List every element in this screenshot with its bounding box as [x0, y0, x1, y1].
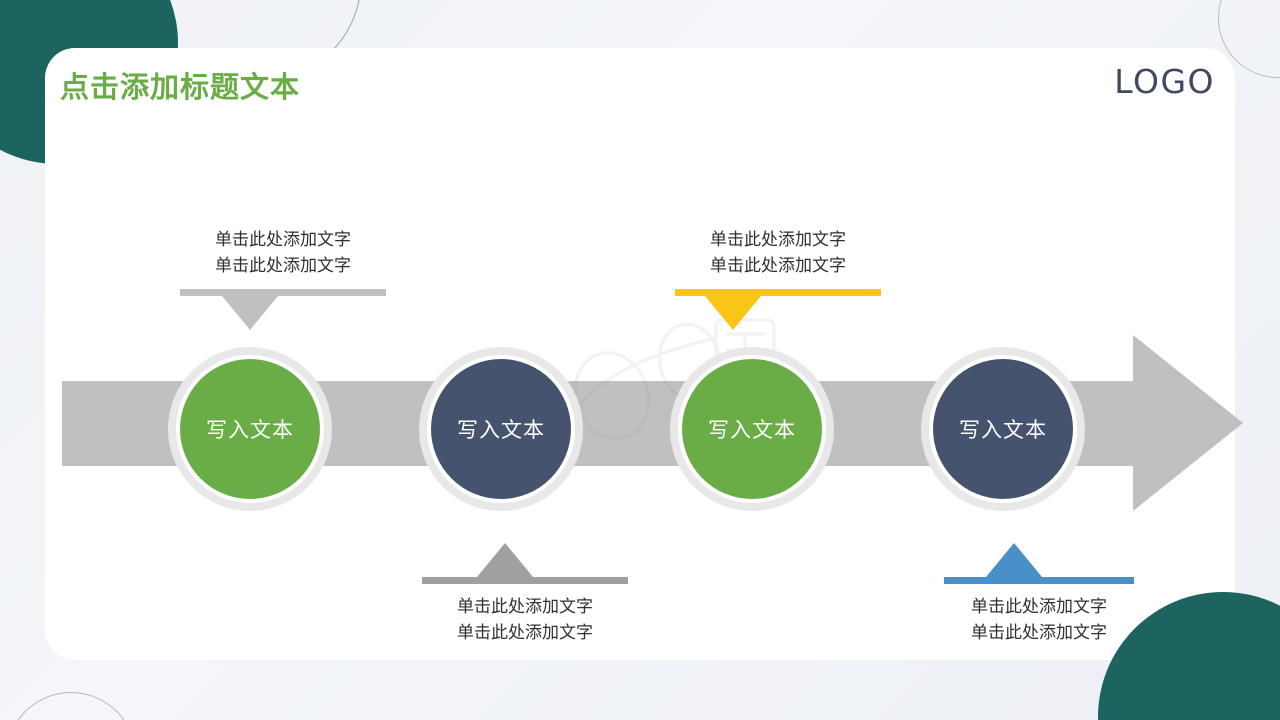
step-circle-2[interactable]: 写入文本	[419, 347, 583, 511]
callout-bottom-step-2-line-1: 单击此处添加文字	[422, 594, 628, 620]
callout-top-step-3-line-2: 单击此处添加文字	[675, 253, 881, 279]
callout-bottom-step-4-pointer-row	[944, 543, 1134, 577]
step-circle-1[interactable]: 写入文本	[168, 347, 332, 511]
callout-bottom-step-4-bar	[944, 577, 1134, 584]
step-circle-4-fill: 写入文本	[933, 359, 1073, 499]
step-circle-3-fill: 写入文本	[682, 359, 822, 499]
callout-top-step-1-bar	[180, 289, 386, 296]
process-arrow-head-icon	[1133, 335, 1243, 511]
decorative-ring-bottom-left	[6, 692, 136, 720]
callout-top-step-1-line-2: 单击此处添加文字	[180, 253, 386, 279]
callout-top-step-3-line-1: 单击此处添加文字	[675, 227, 881, 253]
step-circle-1-fill: 写入文本	[180, 359, 320, 499]
logo-text: LOGO	[1114, 62, 1215, 101]
callout-bottom-step-2[interactable]: 单击此处添加文字 单击此处添加文字	[422, 543, 628, 647]
callout-bottom-step-2-pointer-icon	[477, 543, 533, 577]
callout-top-step-1-line-1: 单击此处添加文字	[180, 227, 386, 253]
callout-top-step-3-bar	[675, 289, 881, 296]
callout-bottom-step-2-bar	[422, 577, 628, 584]
step-circle-4[interactable]: 写入文本	[921, 347, 1085, 511]
callout-bottom-step-2-line-2: 单击此处添加文字	[422, 620, 628, 646]
step-circle-3[interactable]: 写入文本	[670, 347, 834, 511]
step-circle-3-label: 写入文本	[708, 414, 796, 444]
page-title: 点击添加标题文本	[60, 64, 300, 106]
step-circle-1-label: 写入文本	[206, 414, 294, 444]
callout-top-step-3[interactable]: 单击此处添加文字 单击此处添加文字	[675, 227, 881, 330]
callout-bottom-step-4-pointer-icon	[986, 543, 1042, 577]
callout-bottom-step-4-line-1: 单击此处添加文字	[944, 594, 1134, 620]
callout-top-step-3-pointer-row	[675, 296, 881, 330]
callout-top-step-1-pointer-icon	[222, 296, 278, 330]
slide-canvas: 点击添加标题文本 LOGO 写入文本 写入文本 写入文本 写入文本 单击此处添加…	[0, 0, 1280, 720]
step-circle-2-fill: 写入文本	[431, 359, 571, 499]
callout-top-step-3-pointer-icon	[705, 296, 761, 330]
step-circle-2-label: 写入文本	[457, 414, 545, 444]
callout-bottom-step-4-line-2: 单击此处添加文字	[944, 620, 1134, 646]
callout-top-step-1[interactable]: 单击此处添加文字 单击此处添加文字	[180, 227, 386, 330]
callout-bottom-step-2-pointer-row	[422, 543, 628, 577]
callout-bottom-step-4[interactable]: 单击此处添加文字 单击此处添加文字	[944, 543, 1134, 647]
callout-top-step-1-pointer-row	[180, 296, 386, 330]
step-circle-4-label: 写入文本	[959, 414, 1047, 444]
